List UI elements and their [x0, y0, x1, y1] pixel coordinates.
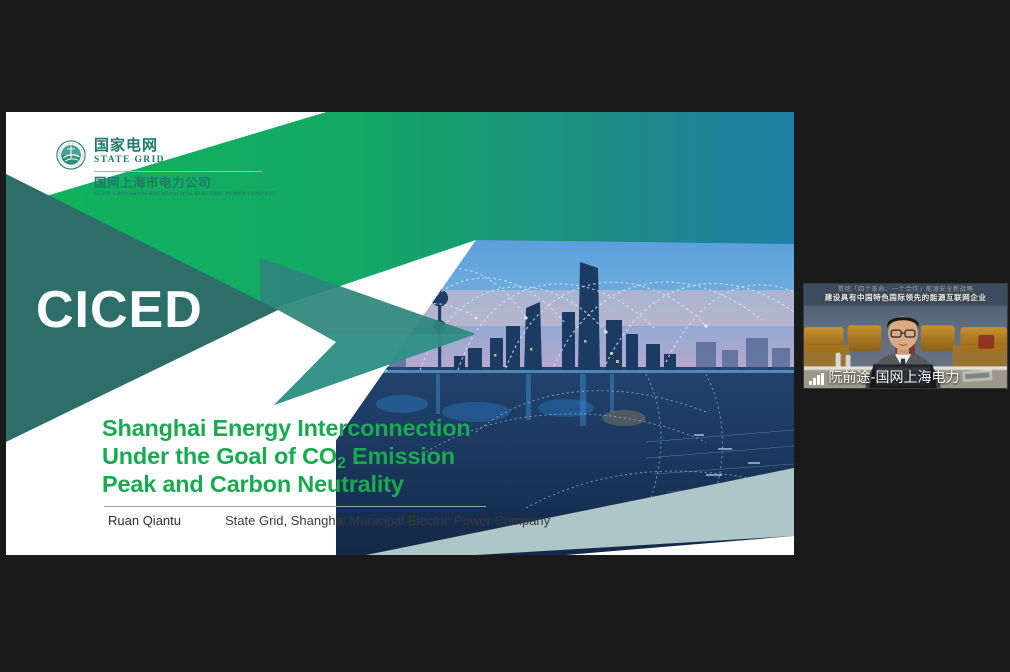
title-line-2-post: Emission: [346, 443, 455, 469]
logo-company-en: STATE GRID: [94, 154, 276, 166]
state-grid-emblem-icon: [56, 140, 86, 170]
slide-title-block: Shanghai Energy Interconnection Under th…: [102, 414, 550, 528]
title-line-2-pre: Under the Goal of CO: [102, 443, 337, 469]
participant-name: 阮前途-国网上海电力: [829, 371, 960, 385]
title-line-2: Under the Goal of CO2 Emission: [102, 442, 550, 470]
signal-bars-icon: [809, 373, 824, 385]
title-co2-subscript: 2: [337, 455, 346, 472]
video-banner-line-2: 建设具有中国特色国际领先的能源互联网企业: [804, 292, 1007, 303]
screen-root: 国家电网 STATE GRID 国网上海市电力公司 STATE GRID SHA…: [0, 0, 1010, 672]
presentation-slide[interactable]: 国家电网 STATE GRID 国网上海市电力公司 STATE GRID SHA…: [6, 112, 794, 555]
logo-subsidiary-cn: 国网上海市电力公司: [94, 176, 276, 190]
logo-divider: [94, 171, 262, 172]
title-divider: [104, 506, 486, 507]
title-line-3: Peak and Carbon Neutrality: [102, 470, 550, 498]
byline-organization: State Grid, Shanghai Municipal Electric …: [225, 513, 550, 528]
participant-label: 阮前途-国网上海电力: [809, 371, 960, 385]
title-line-1: Shanghai Energy Interconnection: [102, 414, 550, 442]
logo-subsidiary-en: STATE GRID SHANGHAI MUNICIPAL ELECTRIC P…: [94, 191, 276, 198]
byline: Ruan Qiantu State Grid, Shanghai Municip…: [102, 513, 550, 528]
state-grid-logo: 国家电网 STATE GRID 国网上海市电力公司 STATE GRID SHA…: [56, 138, 276, 198]
logo-company-cn: 国家电网: [94, 138, 276, 154]
byline-presenter: Ruan Qiantu: [108, 513, 181, 528]
participant-video-tile[interactable]: 贯彻「四个革命、一个合作」能源安全新战略 建设具有中国特色国际领先的能源互联网企…: [803, 283, 1008, 389]
ciced-brand-text: CICED: [36, 284, 203, 336]
